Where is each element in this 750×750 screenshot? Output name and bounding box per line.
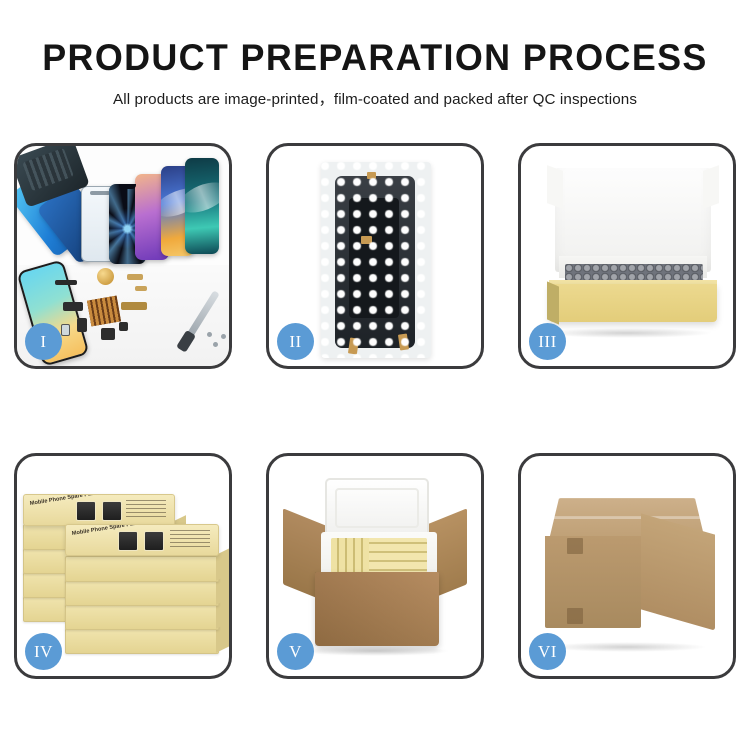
- box-art-screens-back: [76, 501, 132, 521]
- carton-front-face: [545, 536, 641, 628]
- flex-cable-3: [77, 318, 87, 332]
- flex-cable-5: [119, 322, 128, 331]
- stacked-box-front-3: [65, 580, 219, 606]
- bubble-film: [321, 162, 431, 358]
- step-badge-4: IV: [25, 633, 62, 670]
- part-strip-3: [135, 286, 147, 291]
- stacked-box-front-top: Mobile Phone Spare Parts: [65, 524, 219, 556]
- process-step-1: I: [14, 143, 232, 369]
- stacked-box-front-2: [65, 556, 219, 582]
- process-step-4: Mobile Phone Spare Parts Mobile Phone Sp…: [14, 453, 232, 679]
- foam-box-lid: [325, 478, 429, 538]
- phone-teal-wave: [185, 158, 219, 254]
- flex-cable-4: [101, 328, 115, 340]
- step-badge-1: I: [25, 323, 62, 360]
- process-step-grid: I II: [14, 143, 736, 735]
- speaker-module: [97, 268, 114, 285]
- screw-2: [221, 334, 226, 339]
- drop-shadow: [541, 328, 713, 338]
- header: PRODUCT PREPARATION PROCESS All products…: [0, 0, 750, 109]
- flex-cable-2: [121, 302, 147, 310]
- kraft-box-body: [549, 284, 717, 322]
- product-preparation-infographic: PRODUCT PREPARATION PROCESS All products…: [0, 0, 750, 750]
- box-art-screens-front: [118, 531, 174, 551]
- screw-1: [213, 342, 218, 347]
- process-step-3: III: [518, 143, 736, 369]
- carton-side-face: [641, 513, 715, 630]
- stacked-box-front-5: [65, 628, 219, 654]
- part-strip-2: [127, 274, 143, 280]
- box-spec-lines-back: [126, 500, 166, 522]
- carton-tape-patch-bottom: [567, 608, 583, 624]
- process-step-5: V: [266, 453, 484, 679]
- part-strip-1: [55, 280, 77, 285]
- flex-cable-1: [63, 302, 83, 311]
- carton-tape-patch-top: [567, 538, 583, 554]
- page-title: PRODUCT PREPARATION PROCESS: [11, 36, 739, 80]
- step-badge-3: III: [529, 323, 566, 360]
- page-subtitle: All products are image-printed，film-coat…: [0, 87, 750, 109]
- step-badge-5: V: [277, 633, 314, 670]
- process-step-2: II: [266, 143, 484, 369]
- outer-carton-body: [315, 572, 439, 646]
- step-badge-6: VI: [529, 633, 566, 670]
- drop-shadow: [547, 642, 707, 652]
- screw-3: [207, 332, 212, 337]
- logic-board-chip: [87, 296, 121, 327]
- phone-notch: [119, 184, 136, 189]
- process-step-6: VI: [518, 453, 736, 679]
- stacked-box-front-4: [65, 604, 219, 630]
- step-badge-2: II: [277, 323, 314, 360]
- stacked-box-back-top: Mobile Phone Spare Parts: [23, 494, 175, 526]
- box-stack: Mobile Phone Spare Parts Mobile Phone Sp…: [23, 480, 229, 660]
- box-spec-lines-front: [170, 530, 210, 552]
- camera-module: [61, 324, 70, 336]
- bubble-wrapped-package: [321, 162, 431, 358]
- drop-shadow: [300, 646, 450, 656]
